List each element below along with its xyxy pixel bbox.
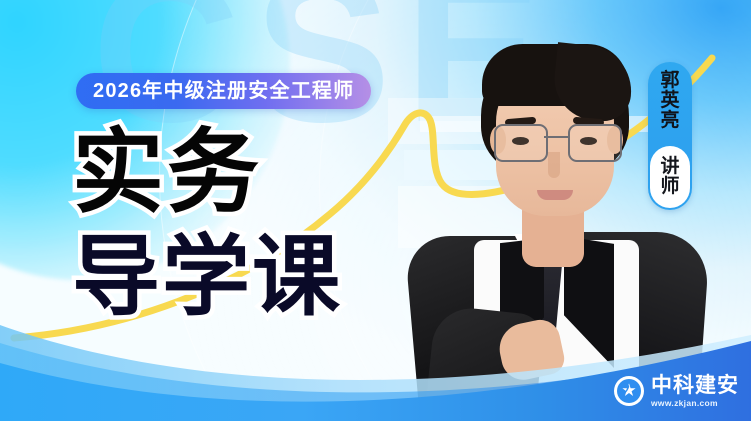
course-banner: CSE 2026年中级注册安全工程师 实务 导学课 xyxy=(0,0,751,421)
logo-text: 中科建安 www.zkjan.com xyxy=(651,375,739,408)
instructor-role-badge: 讲 师 xyxy=(650,146,690,208)
instructor-name-pill: 郭 英 亮 讲 师 xyxy=(648,62,692,210)
course-badge-label: 2026年中级注册安全工程师 xyxy=(93,81,354,101)
course-badge: 2026年中级注册安全工程师 xyxy=(76,73,371,109)
glasses-bridge xyxy=(544,136,568,138)
lens-right xyxy=(568,124,622,162)
logo-glyph xyxy=(617,379,641,403)
mouth xyxy=(537,190,573,200)
nose xyxy=(548,152,560,178)
zkjan-logo-icon xyxy=(614,376,644,406)
lens-left xyxy=(494,124,548,162)
instructor-role-char-2: 师 xyxy=(660,177,679,197)
instructor-name-char-1: 郭 xyxy=(660,71,679,91)
logo-website-url: www.zkjan.com xyxy=(651,399,739,408)
instructor-name-char-2: 英 xyxy=(660,91,679,111)
logo-company-name: 中科建安 xyxy=(651,375,739,396)
instructor-name-char-3: 亮 xyxy=(660,111,679,131)
brand-logo[interactable]: 中科建安 www.zkjan.com xyxy=(614,375,739,408)
instructor-role-char-1: 讲 xyxy=(660,157,679,177)
headline-line-1: 实务 xyxy=(72,128,342,218)
instructor-name: 郭 英 亮 xyxy=(648,71,692,131)
